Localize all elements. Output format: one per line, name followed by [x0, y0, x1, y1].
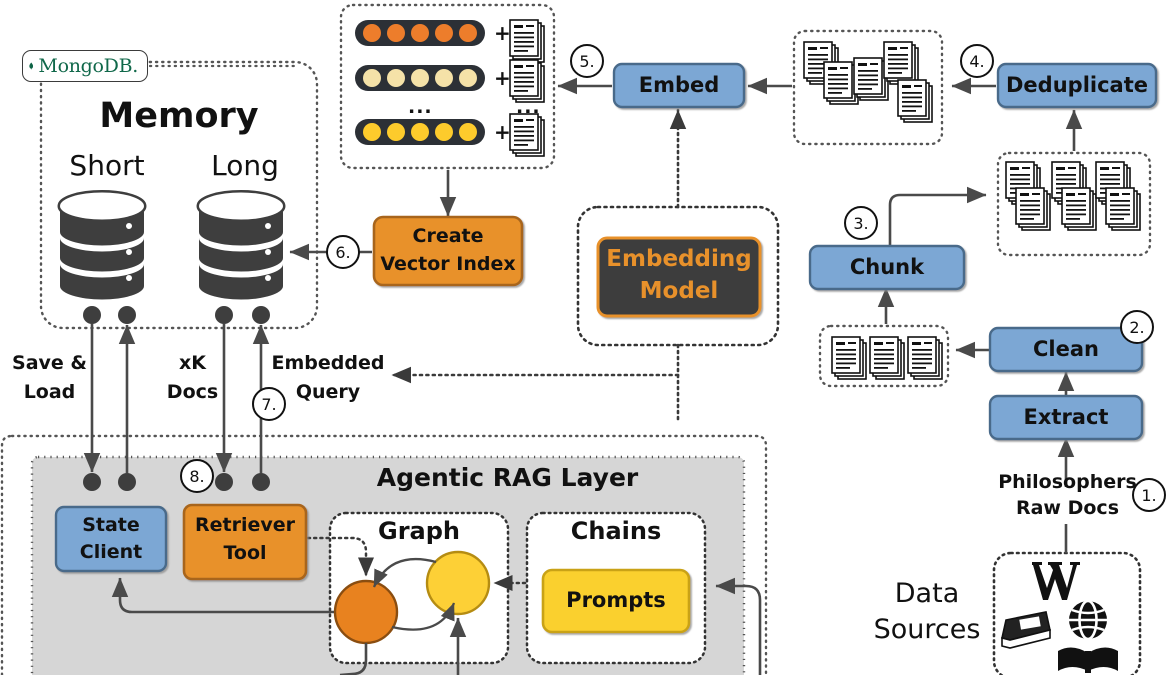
xk-docs-label-line2: Docs [145, 382, 240, 404]
step-marker-3: 3. [844, 206, 878, 240]
vector-bar-yellow [355, 119, 485, 145]
deduplicate-box[interactable] [998, 64, 1156, 107]
step-marker-6: 6. [326, 235, 360, 269]
plus-sign-1: + [494, 21, 511, 45]
step-marker-5: 5. [570, 44, 604, 78]
data-sources-label-line1: Data [862, 578, 992, 609]
graph-title: Graph [330, 518, 508, 546]
memory-connector-dots [83, 306, 270, 324]
retriever-tool-box[interactable] [184, 505, 306, 579]
clean-box[interactable] [990, 328, 1142, 371]
memory-title: Memory [41, 96, 317, 136]
mongodb-badge[interactable]: MongoDB. [22, 50, 148, 82]
docs-ellipsis: ... [516, 96, 541, 118]
step-marker-8: 8. [180, 459, 214, 493]
plus-sign-2: + [494, 66, 511, 90]
mongodb-label: MongoDB. [38, 55, 138, 77]
chains-title: Chains [527, 518, 705, 546]
embed-box[interactable] [614, 64, 744, 107]
vector-row-cream: + [355, 65, 518, 91]
graph-node-orange[interactable] [335, 581, 397, 643]
agentic-rag-layer-title: Agentic RAG Layer [290, 464, 725, 493]
vector-row-yellow: + [355, 119, 518, 145]
open-book-icon [1058, 647, 1118, 673]
short-memory-label: Short [52, 150, 162, 182]
mongodb-leaf-icon [29, 55, 33, 77]
globe-icon [1069, 601, 1107, 639]
prompts-box[interactable] [543, 570, 689, 632]
save-load-label-line2: Load [2, 382, 97, 404]
step-marker-4: 4. [960, 44, 994, 78]
save-load-label-line1: Save & [2, 353, 97, 375]
chunk-box[interactable] [810, 246, 964, 289]
short-memory-db-icon [60, 193, 144, 300]
data-sources-label-line2: Sources [862, 614, 992, 645]
extract-box[interactable] [990, 396, 1142, 439]
embedded-query-label-line1: Embedded [262, 353, 394, 375]
arrow-chunk-to-chunkeddocs [890, 195, 986, 246]
long-memory-db-icon [199, 193, 283, 300]
plus-sign-3: + [494, 120, 511, 144]
vector-row-orange: + [355, 20, 518, 46]
embedding-model-box[interactable] [598, 238, 760, 316]
step-marker-2: 2. [1120, 310, 1154, 344]
graph-node-yellow[interactable] [427, 552, 489, 614]
cleaned-doc-icons [832, 337, 942, 379]
create-vector-index-box[interactable] [374, 217, 522, 285]
chunked-doc-icons [1006, 162, 1140, 230]
vector-ellipsis: ... [408, 96, 433, 118]
wikipedia-w-icon [1032, 562, 1080, 600]
step-marker-7: 7. [252, 387, 286, 421]
step-marker-1: 1. [1132, 478, 1166, 512]
vector-bar-cream [355, 65, 485, 91]
philosophers-raw-docs-line2: Raw Docs [990, 498, 1145, 520]
dedup-doc-icons [804, 42, 932, 122]
closed-book-icon [1002, 612, 1050, 648]
diagram-canvas: MongoDB. Memory Short Long + + + ... ...… [0, 0, 1168, 675]
long-memory-label: Long [190, 150, 300, 182]
philosophers-raw-docs-line1: Philosophers [990, 472, 1145, 494]
vector-bar-orange [355, 20, 485, 46]
xk-docs-label-line1: xK [145, 353, 240, 375]
state-client-box[interactable] [56, 507, 166, 571]
